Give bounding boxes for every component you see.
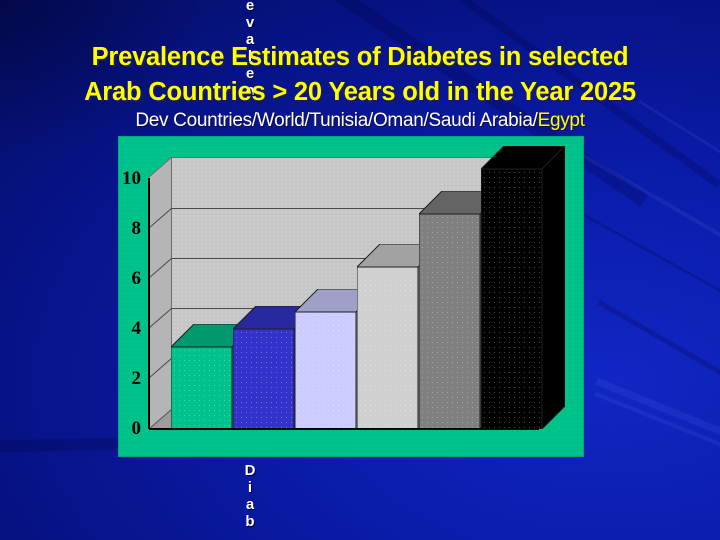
y-tick-label-6: 6 [107,269,141,288]
bar-series [149,157,561,433]
y-tick-label-10: 10 [107,169,141,188]
vertical-char: a [239,496,261,513]
vertical-char: n [239,82,261,99]
vertical-label-prevalence: e v a l e n [239,0,261,99]
vertical-char: D [239,462,261,479]
y-tick-label-0: 0 [107,419,141,438]
vertical-label-diabetes: D i a b [239,462,261,530]
vertical-char: e [239,65,261,82]
vertical-char: a [239,31,261,48]
y-tick-label-4: 4 [107,319,141,338]
vertical-char: l [239,48,261,65]
vertical-char: b [239,513,261,530]
y-tick-label-8: 8 [107,219,141,238]
bar-shape [481,146,565,429]
plot-area: 10 8 6 4 2 0 [149,157,559,419]
x-axis-line [149,428,539,430]
subtitle-highlight-egypt: Egypt [538,110,585,131]
subtitle-countries: Dev Countries/World/Tunisia/Oman/Saudi A… [135,110,537,131]
vertical-char: v [239,14,261,31]
bar-egypt[interactable] [481,146,565,429]
chart-plate: 10 8 6 4 2 0 [119,137,583,456]
vertical-char: e [239,0,261,14]
y-tick-label-2: 2 [107,369,141,388]
vertical-char: i [239,479,261,496]
page-subtitle: Dev Countries/World/Tunisia/Oman/Saudi A… [0,110,720,132]
